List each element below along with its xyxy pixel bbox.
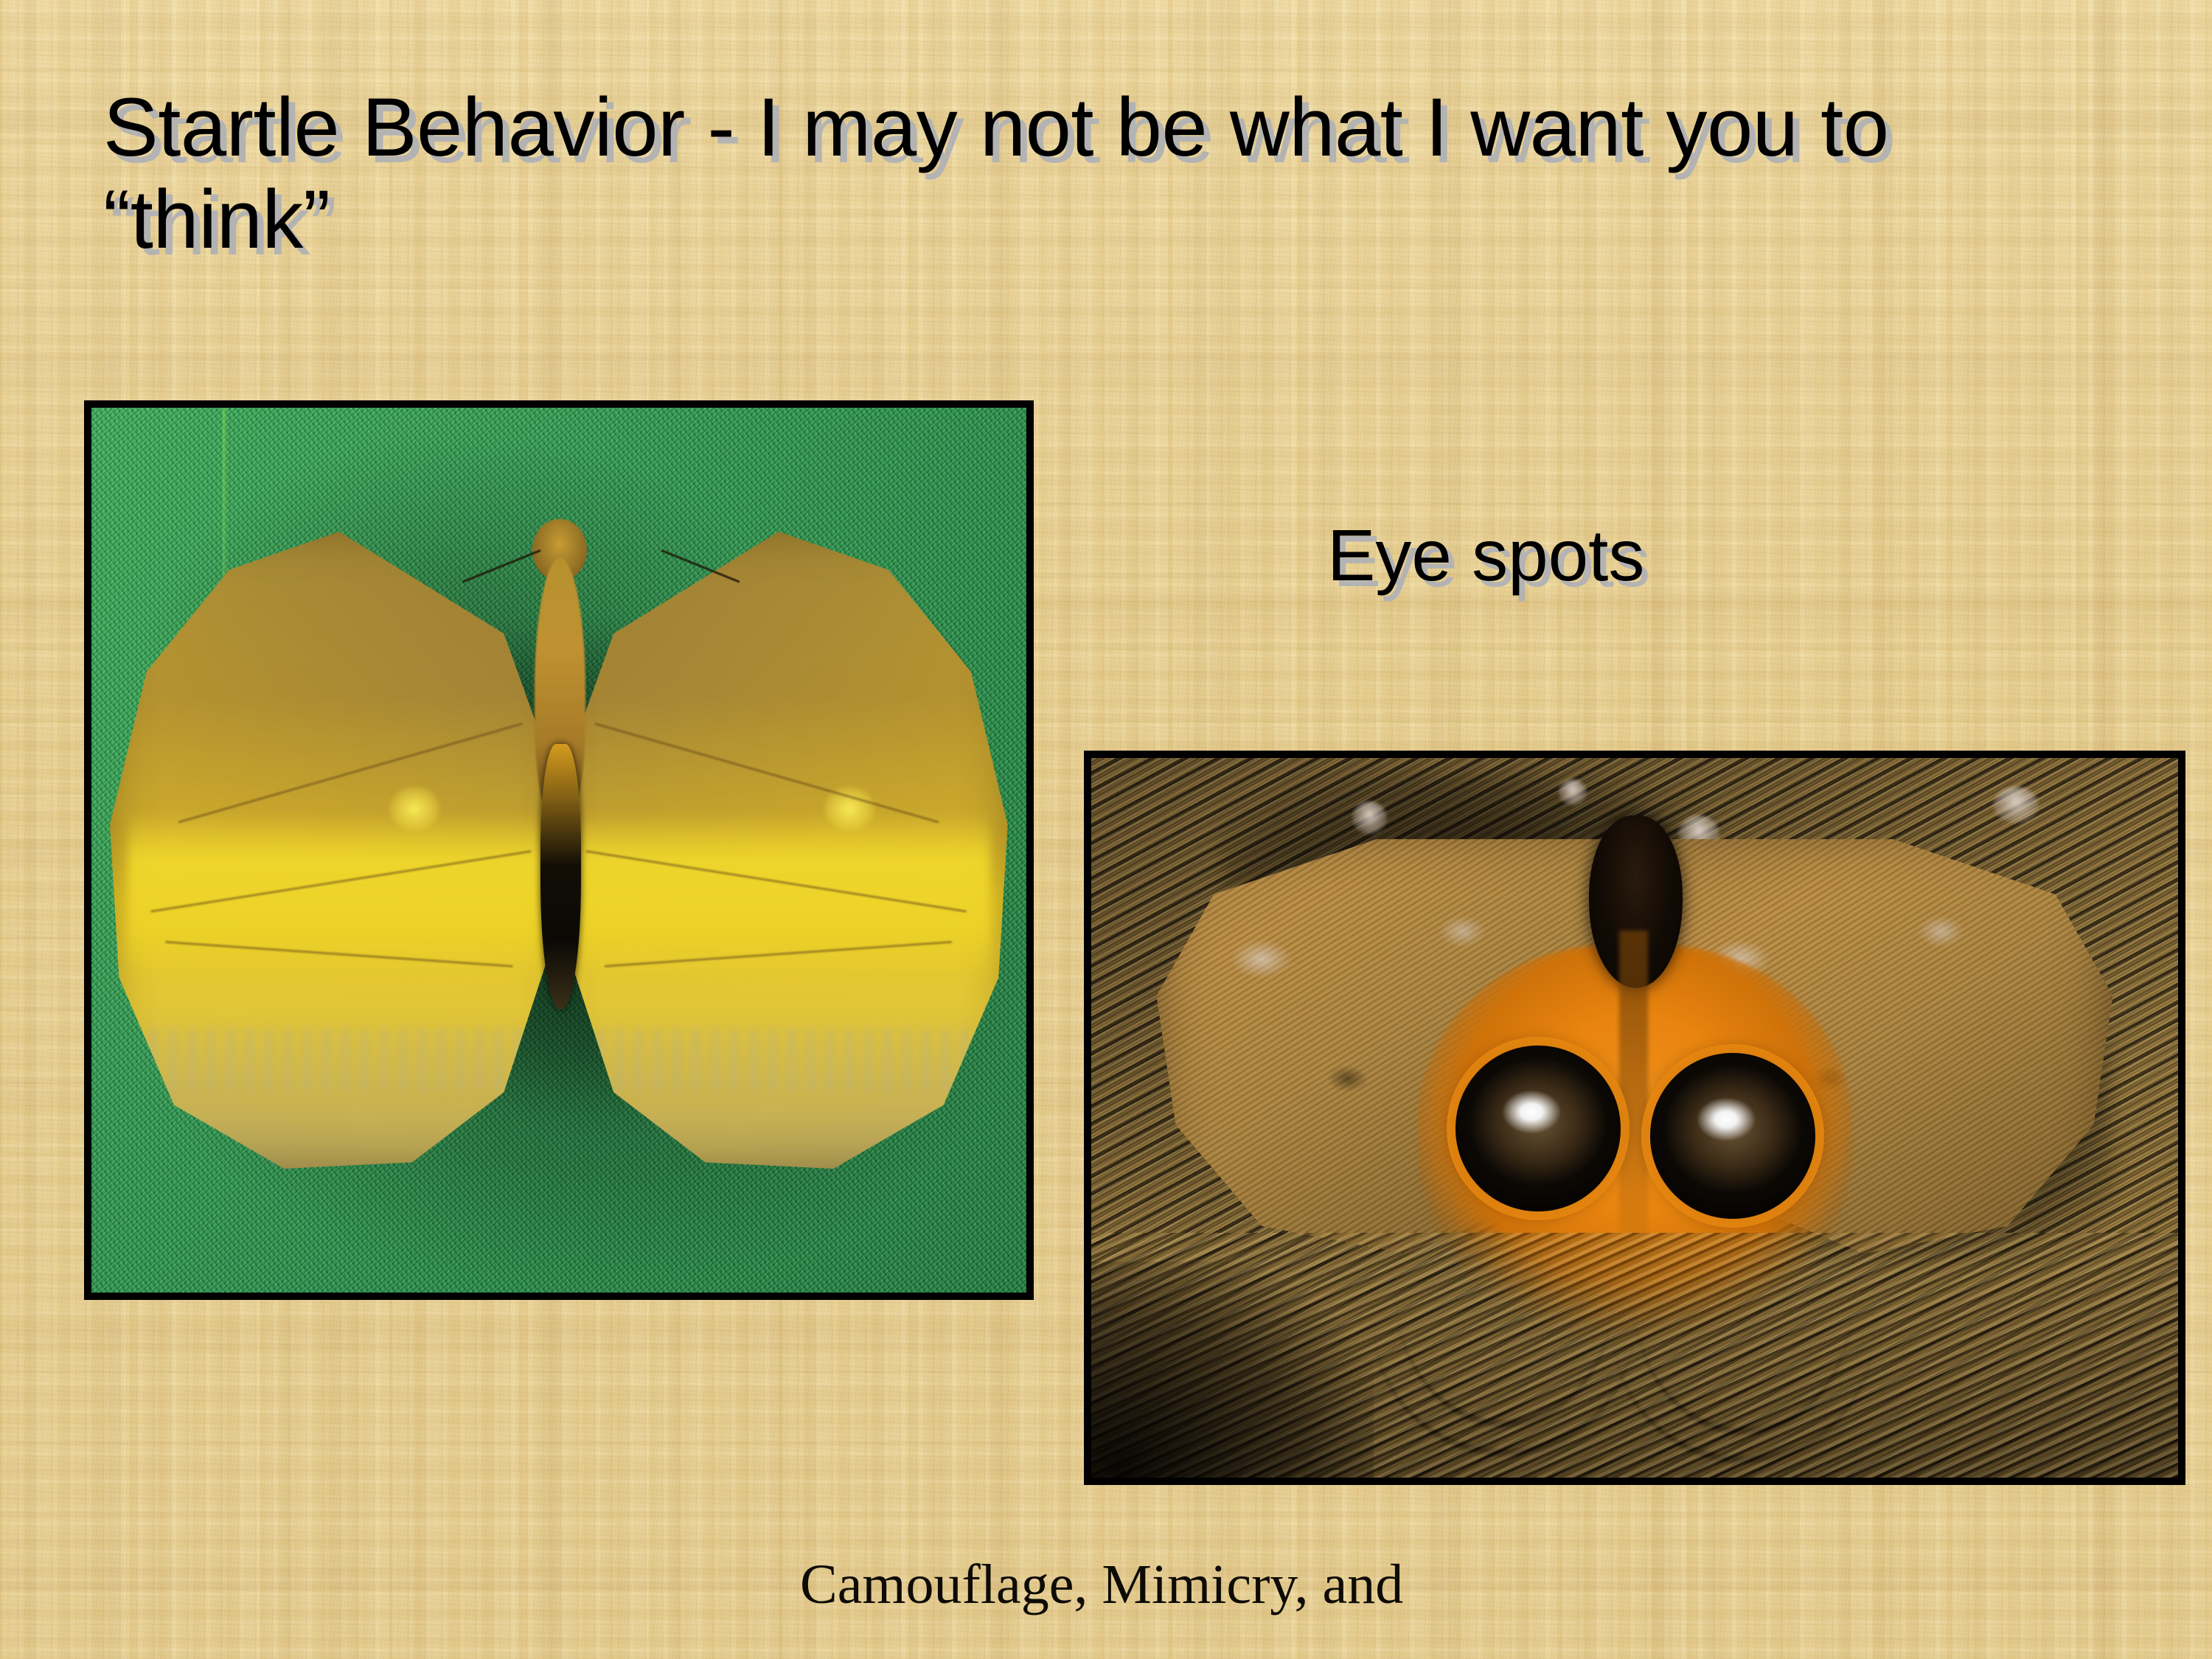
camouflage-photo-inner [91, 408, 1026, 1293]
moth-wing-vein [595, 723, 939, 823]
bark-dark-corner [1091, 1262, 1374, 1478]
moth-wing-spot [824, 787, 874, 831]
bark-light-fleck [1993, 787, 2039, 823]
moth-abdomen [540, 744, 582, 1009]
eye-spots-label: Eye spots [1327, 516, 1644, 596]
eyespots-photo-inner [1091, 758, 2178, 1478]
presentation-slide: Startle Behavior - I may not be what I w… [0, 0, 2212, 1659]
footer-text: Camouflage, Mimicry, and [800, 1552, 1464, 1618]
moth-wing-spot [389, 787, 439, 831]
moth-wing-vein [178, 723, 523, 823]
bark-light-fleck [1352, 801, 1387, 835]
slide-title: Startle Behavior - I may not be what I w… [103, 81, 2124, 266]
moth-wing-frayed-edge [138, 1029, 541, 1092]
camouflage-photo [84, 400, 1034, 1300]
eyespots-photo [1084, 751, 2185, 1485]
moth-wing-frayed-edge [577, 1029, 981, 1092]
